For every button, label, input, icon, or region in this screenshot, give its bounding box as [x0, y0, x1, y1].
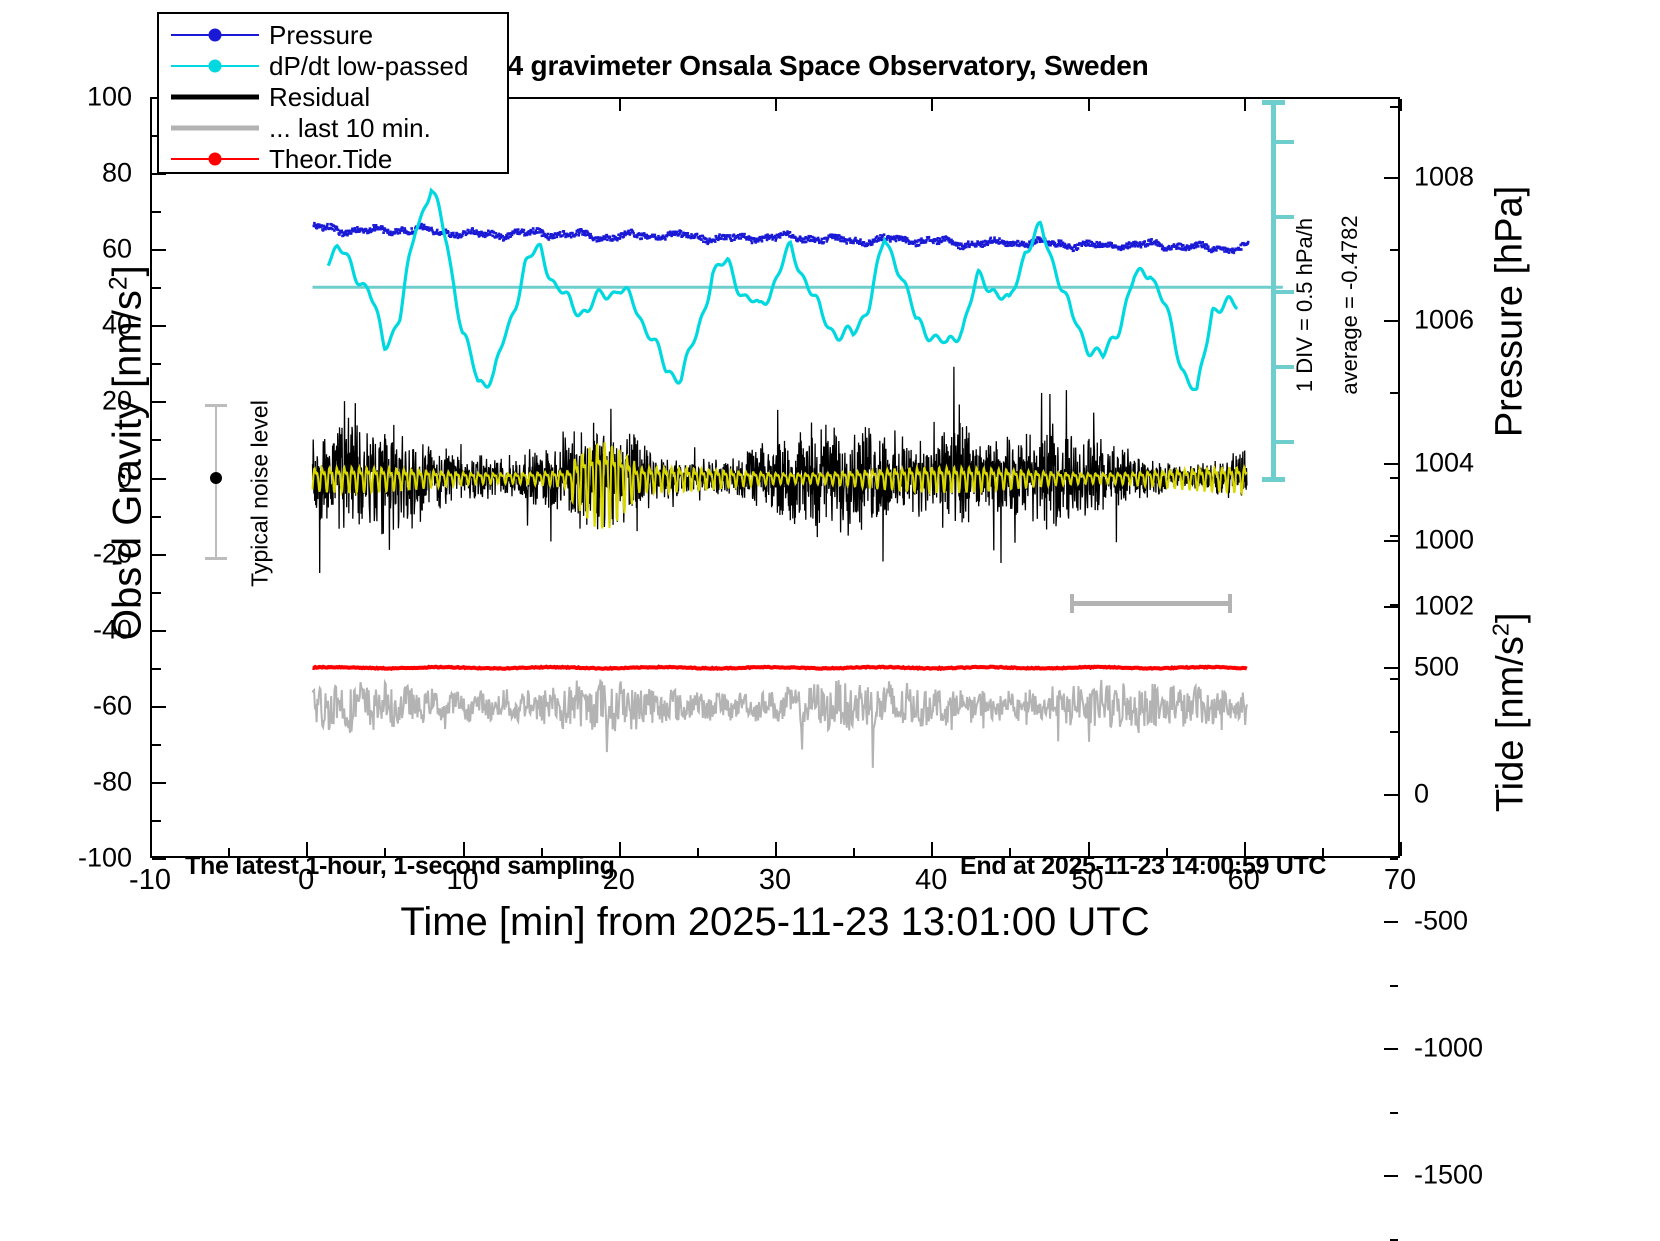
dpdt-average-label: average = -0.4782	[1337, 205, 1363, 405]
legend-item-1[interactable]: dP/dt low-passed	[159, 51, 507, 81]
legend-marker-dot	[209, 60, 222, 73]
dpdt-scale-tick	[1276, 140, 1294, 144]
pressure-tick-label: 1004	[1414, 450, 1474, 477]
typical-noise-label: Typical noise level	[247, 394, 274, 594]
legend-item-4[interactable]: Theor.Tide	[159, 144, 507, 174]
tide-minor-tick	[1390, 1112, 1398, 1114]
last-10-min-marker-right-cap	[1228, 594, 1232, 613]
x-tick-major	[1400, 842, 1402, 856]
legend-swatch-icon	[171, 82, 259, 112]
tide-tick-label: -1000	[1414, 1035, 1483, 1062]
y-tick-label-left: 100	[62, 84, 132, 111]
last-10-min-marker-left-cap	[1070, 594, 1074, 613]
legend-label: ... last 10 min.	[269, 113, 431, 144]
legend-label: Pressure	[269, 20, 373, 51]
legend-item-0[interactable]: Pressure	[159, 20, 507, 50]
y-axis-tide-title-main: Tide [nm/s	[1489, 636, 1531, 812]
y-tick-major-left	[152, 858, 166, 860]
tide-minor-tick	[1390, 985, 1398, 987]
pressure-tick-label: 1008	[1414, 164, 1474, 191]
tide-minor-tick	[1390, 1239, 1398, 1241]
legend-item-3[interactable]: ... last 10 min.	[159, 113, 507, 143]
y-axis-left-title-tail: ]	[106, 265, 150, 276]
x-tick-label: 70	[1355, 866, 1445, 895]
pressure-tick-label: 1006	[1414, 307, 1474, 334]
y-tick-label-left: -80	[62, 768, 132, 795]
series-residual	[313, 367, 1247, 573]
y-axis-pressure-title: Pressure [hPa]	[1489, 102, 1532, 522]
tide-tick-label: 500	[1414, 654, 1459, 681]
footer-sampling-info: The latest 1-hour, 1-second sampling	[185, 852, 615, 881]
typical-noise-cap-bottom	[205, 557, 227, 560]
pressure-tick-label: 1002	[1414, 593, 1474, 620]
dpdt-scale-bar-top-cap	[1262, 100, 1285, 105]
series-last-10-min	[313, 680, 1247, 768]
legend: PressuredP/dt low-passedResidual... last…	[157, 12, 509, 174]
tide-tick-label: 0	[1414, 781, 1429, 808]
data-series-canvas	[150, 97, 1400, 858]
series-pressure	[313, 222, 1250, 254]
legend-marker-dot	[209, 29, 222, 42]
tide-tick-tick	[1384, 1175, 1398, 1177]
legend-label: Theor.Tide	[269, 144, 392, 175]
legend-swatch-icon	[171, 144, 259, 174]
dpdt-scale-bar-bottom-cap	[1262, 477, 1285, 482]
x-axis-title: Time [min] from 2025-11-23 13:01:00 UTC	[150, 900, 1400, 945]
tide-tick-tick	[1384, 1048, 1398, 1050]
footer-end-time: End at 2025-11-23 14:00:59 UTC	[960, 852, 1326, 881]
y-axis-left-title-main: Obs'd Gravity [nm/s	[106, 290, 150, 640]
y-axis-left-title: Obs'd Gravity [nm/s2]	[105, 173, 150, 733]
x-tick-label: 30	[730, 866, 820, 895]
x-tick-major-top	[1400, 99, 1402, 111]
legend-swatch-icon	[171, 51, 259, 81]
legend-marker-dot	[209, 153, 222, 166]
legend-item-2[interactable]: Residual	[159, 82, 507, 112]
series-theor-tide	[313, 667, 1247, 669]
legend-label: Residual	[269, 82, 370, 113]
dpdt-div-label: 1 DIV = 0.5 hPa/h	[1292, 205, 1318, 405]
tide-tick-label: 1000	[1414, 527, 1474, 554]
legend-swatch-icon	[171, 113, 259, 143]
legend-swatch-icon	[171, 20, 259, 50]
y-axis-tide-title-sup: 2	[1488, 623, 1514, 636]
typical-noise-centre-dot	[210, 472, 222, 484]
series-dpdt-lowpassed	[328, 191, 1237, 390]
x-tick-label: -10	[105, 866, 195, 895]
legend-label: dP/dt low-passed	[269, 51, 468, 82]
y-axis-tide-title-tail: ]	[1489, 613, 1531, 624]
y-axis-tide-title: Tide [nm/s2]	[1488, 532, 1533, 892]
y-axis-left-title-sup: 2	[105, 276, 132, 290]
typical-noise-cap-top	[205, 404, 227, 407]
legend-line	[171, 126, 259, 131]
tide-tick-label: -1500	[1414, 1162, 1483, 1189]
tide-tick-label: -500	[1414, 908, 1468, 935]
last-10-min-marker	[1070, 601, 1232, 606]
legend-line	[171, 95, 259, 100]
dpdt-scale-tick	[1276, 440, 1294, 444]
